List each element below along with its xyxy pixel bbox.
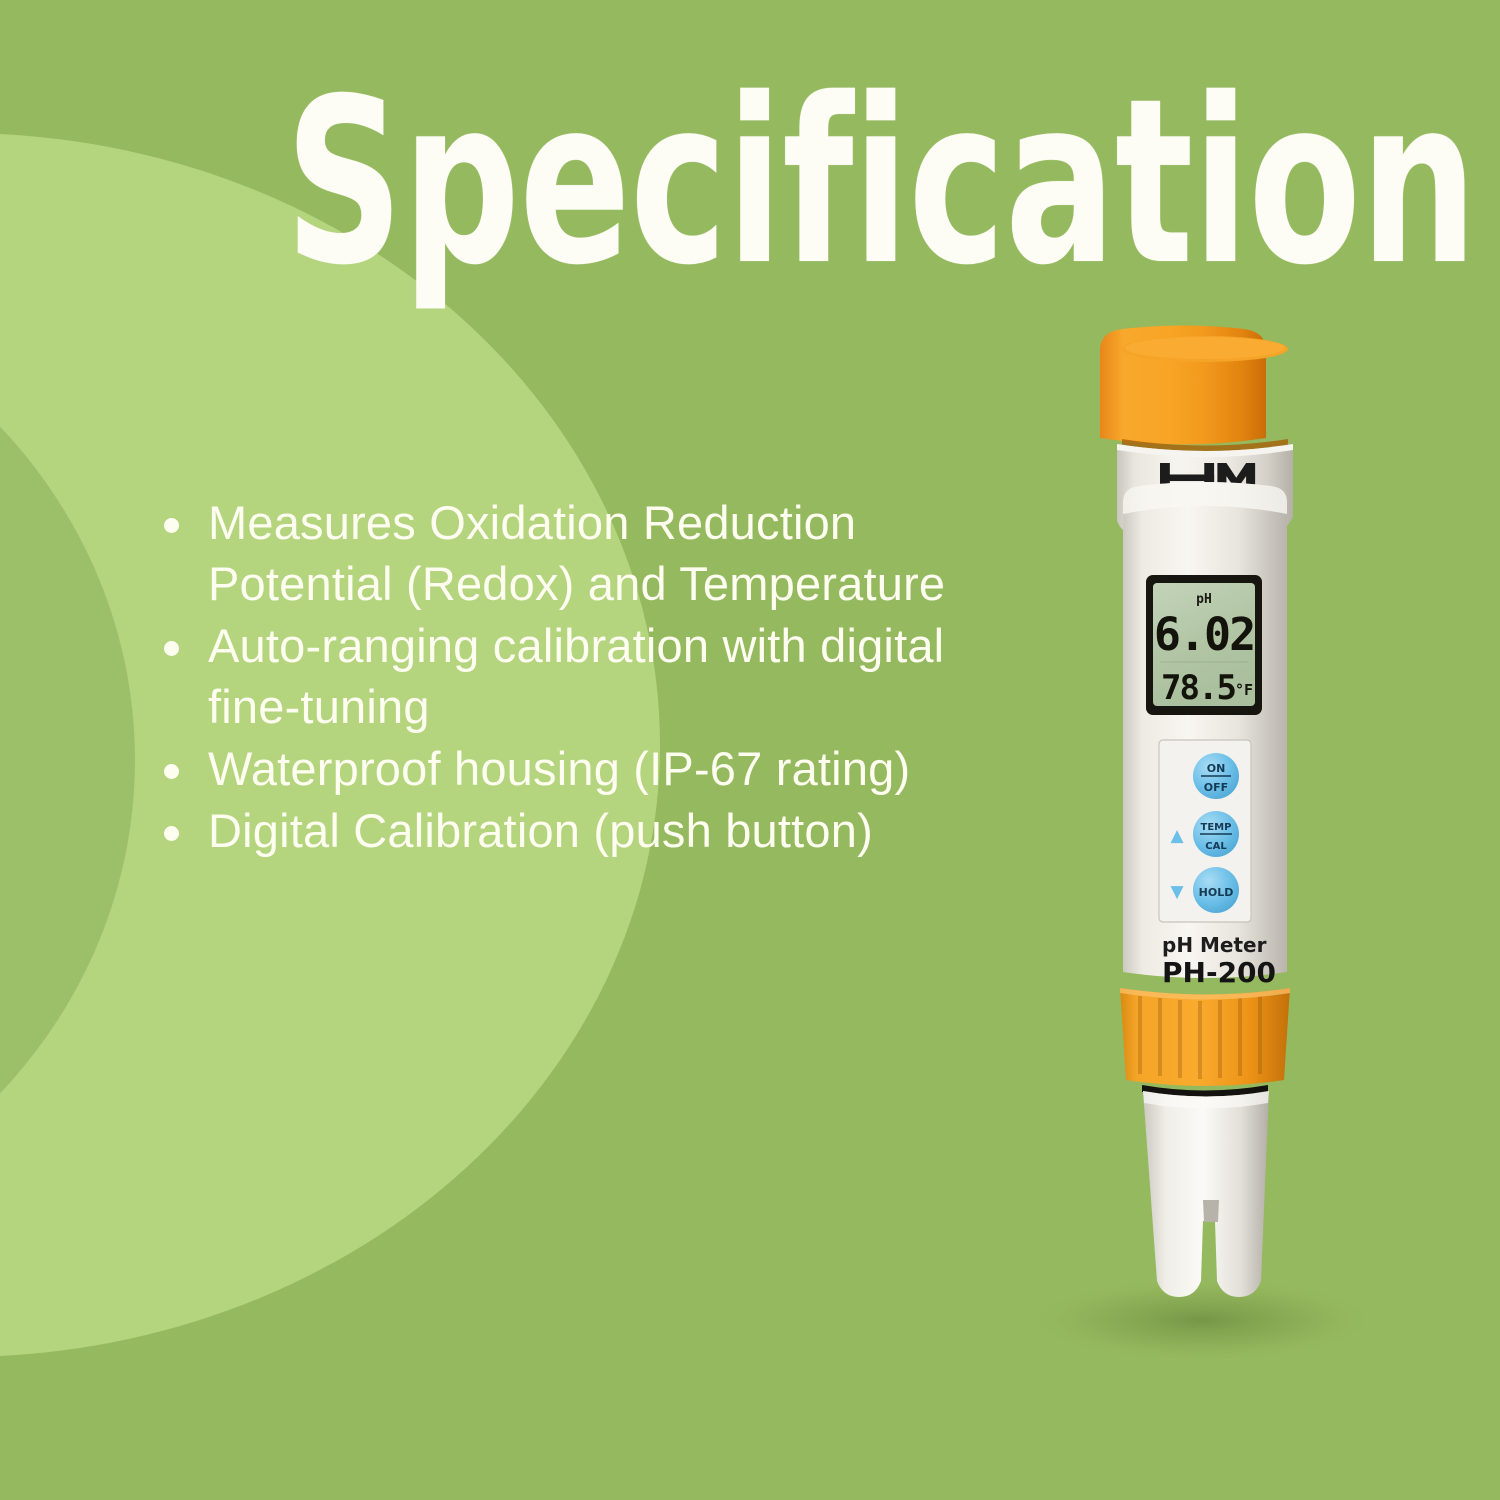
power-button-label-bottom: OFF xyxy=(1204,781,1228,794)
list-item: Digital Calibration (push button) xyxy=(150,800,1030,861)
lcd-display: pH 6.02 78.5 °F xyxy=(1146,575,1262,715)
device-collar xyxy=(1120,988,1290,1086)
button-panel: ON OFF TEMP CAL ▲ HOLD ▼ xyxy=(1159,740,1251,922)
ph-meter-device-image: DIGITAL pH 6.02 78.5 °F ON OFF TEMP CAL xyxy=(1020,320,1420,1380)
device-label-line1: pH Meter xyxy=(1162,933,1267,957)
list-item: Auto-ranging calibration with digital fi… xyxy=(150,615,1030,737)
arrow-down-icon: ▼ xyxy=(1170,882,1184,902)
list-item: Measures Oxidation Reduction Potential (… xyxy=(150,492,1030,614)
arrow-up-icon: ▲ xyxy=(1170,826,1184,846)
power-button[interactable]: ON OFF xyxy=(1193,753,1239,799)
lcd-temperature-value: 78.5 xyxy=(1161,668,1235,708)
temp-cal-button-label-top: TEMP xyxy=(1201,822,1232,833)
feature-list: Measures Oxidation Reduction Potential (… xyxy=(150,492,1030,863)
device-cap xyxy=(1100,326,1288,454)
hold-button-label: HOLD xyxy=(1199,886,1234,899)
device-label-line2: PH-200 xyxy=(1162,956,1276,989)
temp-cal-button-label-bottom: CAL xyxy=(1205,841,1227,852)
lcd-unit-label: pH xyxy=(1196,592,1212,607)
lcd-ph-value: 6.02 xyxy=(1154,608,1254,661)
page-title: Specification xyxy=(285,78,1476,288)
device-probe xyxy=(1143,1091,1269,1297)
device-shadow xyxy=(1027,1278,1377,1362)
list-item: Waterproof housing (IP-67 rating) xyxy=(150,738,1030,799)
power-button-label-top: ON xyxy=(1207,762,1226,775)
lcd-temperature-unit: °F xyxy=(1235,681,1253,699)
